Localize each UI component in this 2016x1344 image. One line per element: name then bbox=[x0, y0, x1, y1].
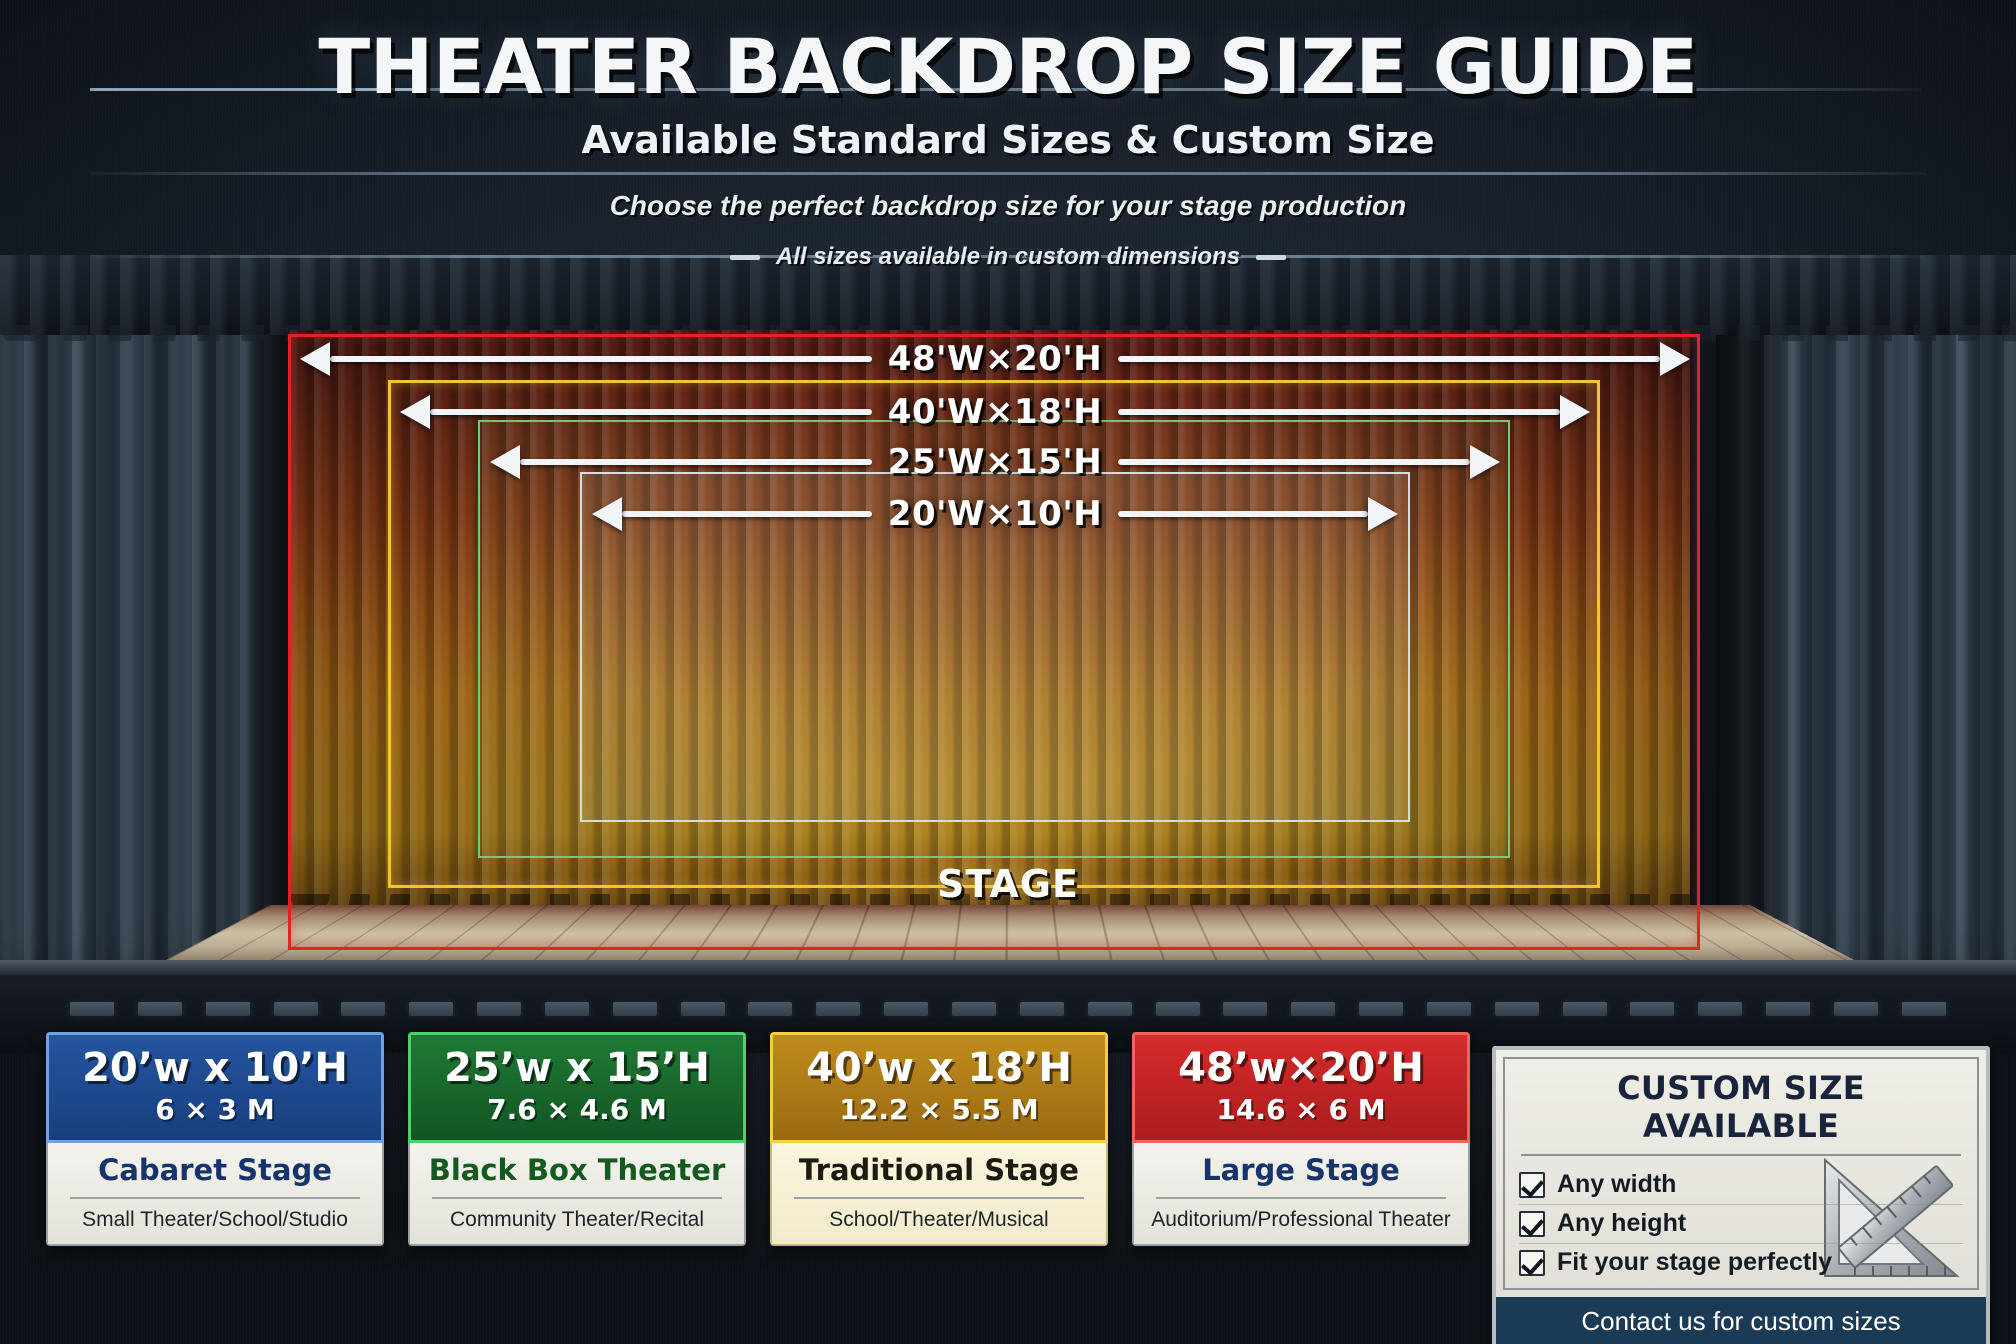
dimension-row-40x18: 40'W×18'H bbox=[400, 388, 1590, 436]
footlight bbox=[748, 1002, 792, 1016]
stage-label: STAGE bbox=[0, 862, 2016, 906]
header-divider-2 bbox=[90, 172, 1926, 175]
arrow-left-icon bbox=[300, 342, 330, 376]
card-divider bbox=[70, 1197, 360, 1199]
arrow-left-icon bbox=[490, 445, 520, 479]
custom-feature-fit-stage: Fit your stage perfectly bbox=[1519, 1243, 1963, 1282]
arrow-line bbox=[1118, 459, 1470, 465]
arrow-line bbox=[1118, 356, 1660, 362]
arrow-line bbox=[430, 409, 872, 415]
custom-feature-label: Any height bbox=[1557, 1209, 1686, 1238]
arrow-line bbox=[1118, 409, 1560, 415]
custom-note-row: All sizes available in custom dimensions bbox=[0, 243, 2016, 271]
page-title: THEATER BACKDROP SIZE GUIDE bbox=[0, 22, 2016, 111]
arrow-line bbox=[520, 459, 872, 465]
size-card-large-stage[interactable]: 48’w×20’H 14.6 × 6 M Large Stage Auditor… bbox=[1132, 1032, 1470, 1246]
footlight bbox=[1766, 1002, 1810, 1016]
card-body: Cabaret Stage Small Theater/School/Studi… bbox=[46, 1143, 384, 1246]
stage-floor bbox=[166, 905, 1853, 960]
card-body: Black Box Theater Community Theater/Reci… bbox=[408, 1143, 746, 1246]
size-card-cabaret-stage[interactable]: 20’w x 10’H 6 × 3 M Cabaret Stage Small … bbox=[46, 1032, 384, 1246]
dimension-label: 20'W×10'H bbox=[872, 494, 1118, 534]
arrow-right-icon bbox=[1368, 497, 1398, 531]
floor-planks bbox=[166, 905, 1853, 960]
card-usage: School/Theater/Musical bbox=[782, 1208, 1096, 1232]
footlight bbox=[274, 1002, 318, 1016]
size-card-black-box-theater[interactable]: 25’w x 15’H 7.6 × 4.6 M Black Box Theate… bbox=[408, 1032, 746, 1246]
footlight bbox=[681, 1002, 725, 1016]
footlight bbox=[1359, 1002, 1403, 1016]
footlight bbox=[1698, 1002, 1742, 1016]
card-name: Traditional Stage bbox=[782, 1155, 1096, 1187]
arrow-left-icon bbox=[592, 497, 622, 531]
card-header: 40’w x 18’H 12.2 × 5.5 M bbox=[770, 1032, 1108, 1143]
page-subtitle: Available Standard Sizes & Custom Size bbox=[0, 118, 2016, 162]
footlight bbox=[1563, 1002, 1607, 1016]
footlight bbox=[70, 1002, 114, 1016]
footlight bbox=[477, 1002, 521, 1016]
custom-size-panel[interactable]: CUSTOM SIZE AVAILABLE Any width Any heig… bbox=[1492, 1046, 1990, 1344]
footlight bbox=[341, 1002, 385, 1016]
arrow-line bbox=[330, 356, 872, 362]
custom-feature-label: Fit your stage perfectly bbox=[1557, 1248, 1832, 1277]
dash-right-icon bbox=[1256, 255, 1286, 260]
footlight bbox=[1156, 1002, 1200, 1016]
footlight bbox=[816, 1002, 860, 1016]
footlight bbox=[884, 1002, 928, 1016]
card-body: Large Stage Auditorium/Professional Thea… bbox=[1132, 1143, 1470, 1246]
footlights-row bbox=[70, 1002, 1946, 1018]
dimension-row-48x20: 48'W×20'H bbox=[300, 335, 1690, 383]
footlight bbox=[1020, 1002, 1064, 1016]
card-header: 48’w×20’H 14.6 × 6 M bbox=[1132, 1032, 1470, 1143]
dimension-row-20x10: 20'W×10'H bbox=[592, 490, 1398, 538]
checkbox-checked-icon[interactable] bbox=[1519, 1250, 1545, 1276]
card-header: 25’w x 15’H 7.6 × 4.6 M bbox=[408, 1032, 746, 1143]
footlight bbox=[1427, 1002, 1471, 1016]
card-size: 40’w x 18’H bbox=[779, 1047, 1099, 1089]
card-usage: Small Theater/School/Studio bbox=[58, 1208, 372, 1232]
footlight bbox=[1088, 1002, 1132, 1016]
dimension-label: 40'W×18'H bbox=[872, 392, 1118, 432]
footlight bbox=[545, 1002, 589, 1016]
arrow-right-icon bbox=[1660, 342, 1690, 376]
card-usage: Auditorium/Professional Theater bbox=[1144, 1208, 1458, 1232]
footlight bbox=[1223, 1002, 1267, 1016]
infographic-root: THEATER BACKDROP SIZE GUIDE Available St… bbox=[0, 0, 2016, 1344]
custom-panel-title: CUSTOM SIZE AVAILABLE bbox=[1519, 1069, 1963, 1145]
footlight bbox=[952, 1002, 996, 1016]
page-tagline: Choose the perfect backdrop size for you… bbox=[0, 190, 2016, 222]
card-divider bbox=[794, 1197, 1084, 1199]
card-size: 20’w x 10’H bbox=[55, 1047, 375, 1089]
footlight bbox=[1630, 1002, 1674, 1016]
checkbox-checked-icon[interactable] bbox=[1519, 1172, 1545, 1198]
dimension-row-25x15: 25'W×15'H bbox=[490, 438, 1500, 486]
card-metric: 6 × 3 M bbox=[55, 1093, 375, 1126]
card-metric: 14.6 × 6 M bbox=[1141, 1093, 1461, 1126]
card-header: 20’w x 10’H 6 × 3 M bbox=[46, 1032, 384, 1143]
dimension-label: 48'W×20'H bbox=[872, 339, 1118, 379]
dimension-label: 25'W×15'H bbox=[872, 442, 1118, 482]
arrow-right-icon bbox=[1470, 445, 1500, 479]
custom-panel-inner: CUSTOM SIZE AVAILABLE Any width Any heig… bbox=[1503, 1057, 1979, 1290]
card-divider bbox=[432, 1197, 722, 1199]
card-metric: 12.2 × 5.5 M bbox=[779, 1093, 1099, 1126]
custom-note: All sizes available in custom dimensions bbox=[776, 243, 1240, 271]
footlight bbox=[613, 1002, 657, 1016]
card-usage: Community Theater/Recital bbox=[420, 1208, 734, 1232]
arrow-right-icon bbox=[1560, 395, 1590, 429]
card-metric: 7.6 × 4.6 M bbox=[417, 1093, 737, 1126]
card-body: Traditional Stage School/Theater/Musical bbox=[770, 1143, 1108, 1246]
header: THEATER BACKDROP SIZE GUIDE Available St… bbox=[0, 0, 2016, 270]
card-name: Large Stage bbox=[1144, 1155, 1458, 1187]
custom-feature-any-height: Any height bbox=[1519, 1204, 1963, 1243]
arrow-line bbox=[622, 511, 872, 517]
card-name: Black Box Theater bbox=[420, 1155, 734, 1187]
checkbox-checked-icon[interactable] bbox=[1519, 1211, 1545, 1237]
footlight bbox=[1902, 1002, 1946, 1016]
footlight bbox=[409, 1002, 453, 1016]
custom-feature-any-width: Any width bbox=[1519, 1166, 1963, 1204]
arrow-left-icon bbox=[400, 395, 430, 429]
arrow-line bbox=[1118, 511, 1368, 517]
footlight bbox=[138, 1002, 182, 1016]
footlight bbox=[1834, 1002, 1878, 1016]
custom-feature-label: Any width bbox=[1557, 1170, 1676, 1199]
card-size: 48’w×20’H bbox=[1141, 1047, 1461, 1089]
footlight bbox=[1291, 1002, 1335, 1016]
custom-contact-bar[interactable]: Contact us for custom sizes bbox=[1496, 1297, 1986, 1344]
card-name: Cabaret Stage bbox=[58, 1155, 372, 1187]
size-card-traditional-stage[interactable]: 40’w x 18’H 12.2 × 5.5 M Traditional Sta… bbox=[770, 1032, 1108, 1246]
card-divider bbox=[1156, 1197, 1446, 1199]
footlight bbox=[206, 1002, 250, 1016]
card-size: 25’w x 15’H bbox=[417, 1047, 737, 1089]
dash-left-icon bbox=[730, 255, 760, 260]
footlight bbox=[1495, 1002, 1539, 1016]
